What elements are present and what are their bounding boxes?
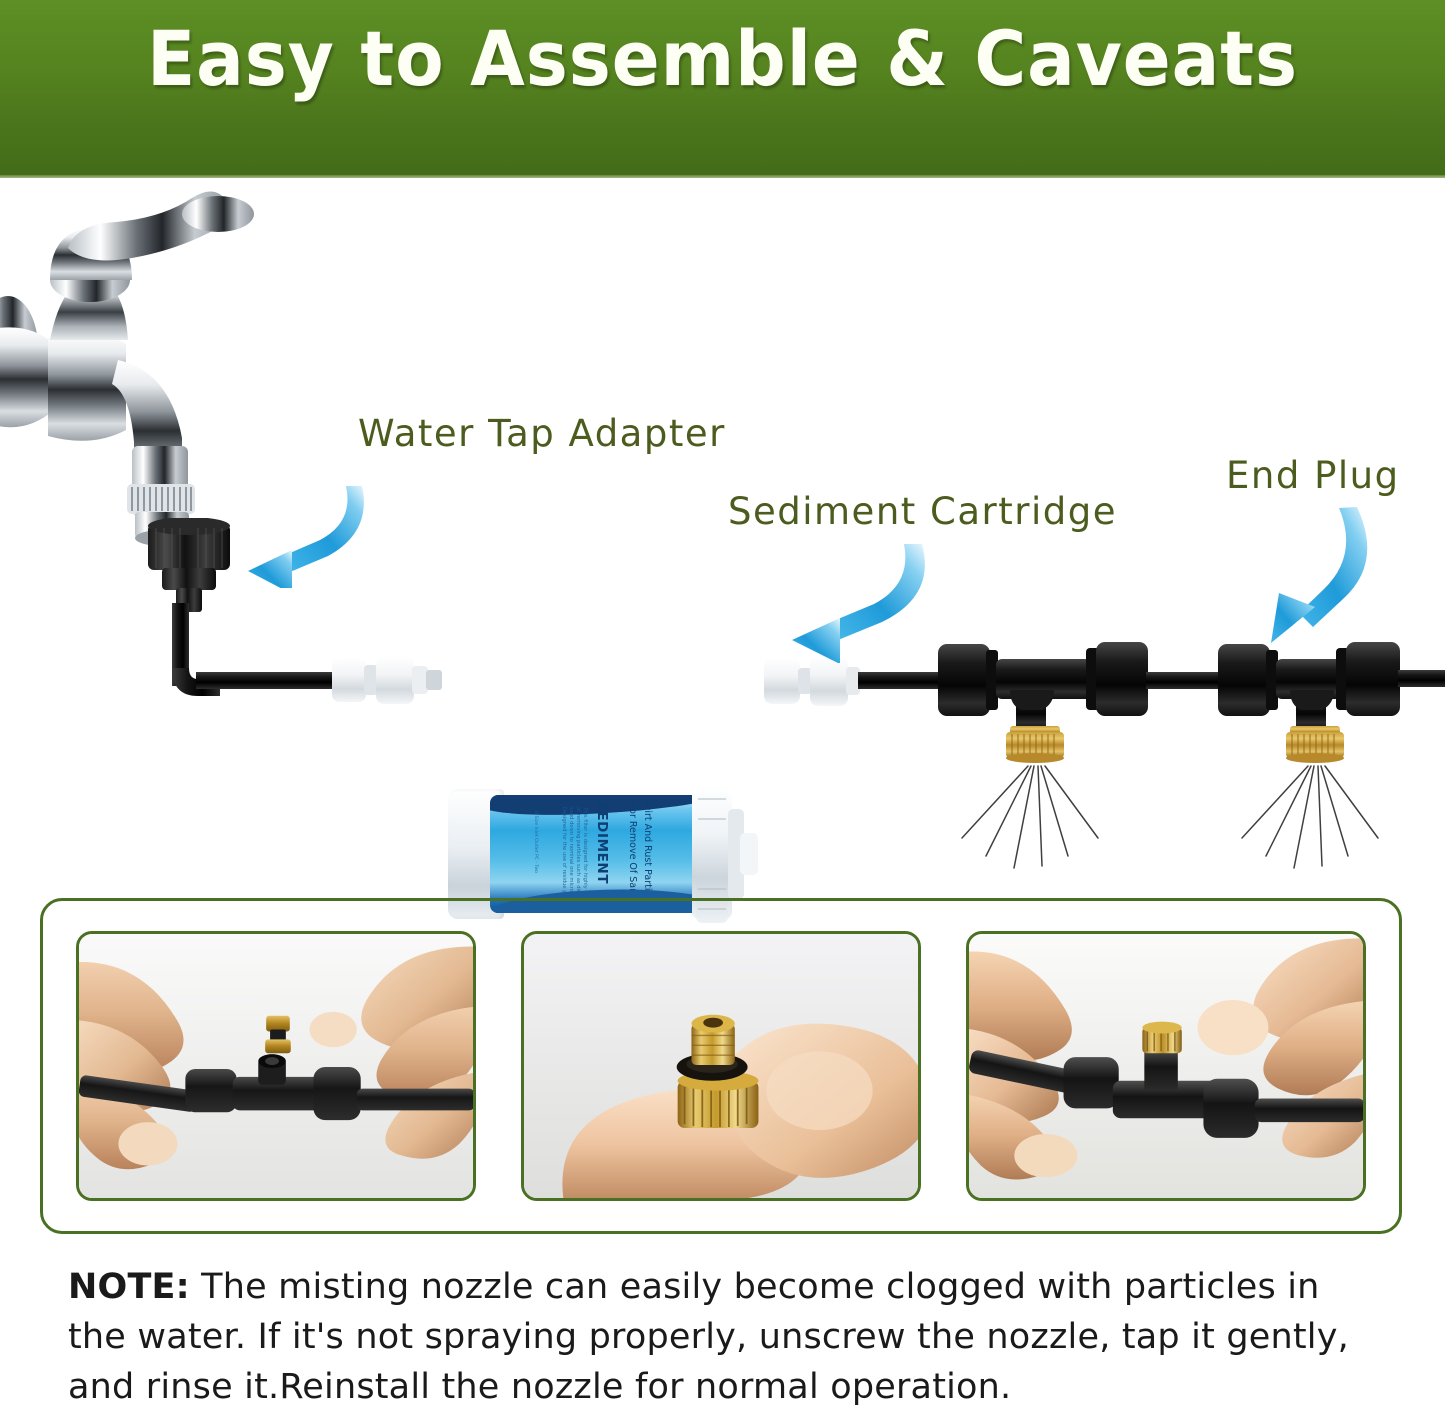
label-water-tap-adapter: Water Tap Adapter: [358, 412, 726, 455]
tee-connector-2: [1218, 642, 1445, 868]
assembly-diagram: SEDIMENT CARTRIDGE For Remove Of Sand Di…: [0, 178, 1445, 878]
arrow-to-sediment-cartridge: [780, 538, 930, 663]
photo-screw-nozzle: [966, 931, 1366, 1201]
arrow-to-end-plug: [1255, 503, 1380, 648]
tee-connector-1: [938, 642, 1222, 868]
header-banner: Easy to Assemble & Caveats: [0, 0, 1445, 178]
tubing-and-fittings: [0, 178, 1445, 878]
label-end-plug: End Plug: [1226, 454, 1400, 497]
end-plug: [1346, 642, 1445, 716]
note-text: NOTE: The misting nozzle can easily beco…: [68, 1262, 1388, 1412]
page-title: Easy to Assemble & Caveats: [51, 14, 1395, 103]
cartridge-main-label: SEDIMENT CARTRIDGE: [594, 801, 610, 913]
photo-panel-row: [40, 898, 1402, 1234]
cartridge-body: SEDIMENT CARTRIDGE For Remove Of Sand Di…: [490, 795, 708, 913]
cartridge-sub-label-1: For Remove Of Sand: [626, 803, 638, 900]
white-fitting-right: [764, 656, 860, 706]
label-sediment-cartridge: Sediment Cartridge: [728, 490, 1117, 533]
photo-insert-nozzle: [76, 931, 476, 1201]
white-fitting-left: [332, 656, 442, 704]
note-prefix: NOTE:: [68, 1267, 190, 1307]
cartridge-sub-label-2: Dirt And Rust Particle: [641, 803, 653, 904]
note-body: The misting nozzle can easily become clo…: [68, 1267, 1349, 1407]
photo-nozzle-closeup: [521, 931, 921, 1201]
arrow-to-tap-adapter: [228, 478, 368, 588]
cartridge-spec-text: B Size Inlet Outlet PC - Two: [530, 811, 540, 873]
